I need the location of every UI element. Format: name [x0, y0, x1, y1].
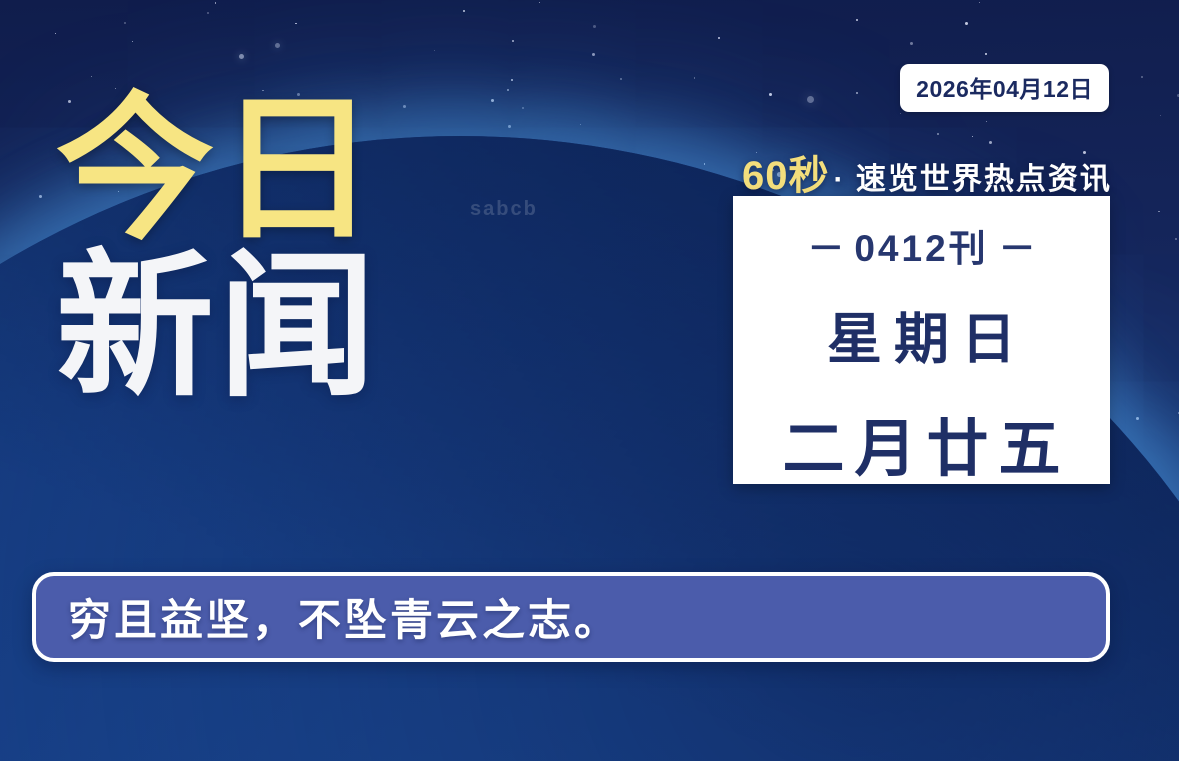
issue-dash-right: －: [989, 228, 1046, 269]
tagline-highlight: 60秒: [742, 154, 830, 198]
tagline-rest: · 速览世界热点资讯: [834, 163, 1112, 196]
date-badge: 2026年04月12日: [900, 64, 1109, 112]
headline-line-today: 今日: [56, 96, 380, 245]
watermark-text: sabcb: [470, 198, 538, 221]
issue-dash-left: －: [797, 228, 854, 269]
page-title: 今日 新闻: [56, 96, 380, 401]
issue-number-row: －0412刊－: [797, 218, 1045, 272]
quote-text: 穷且益坚，不坠青云之志。: [68, 586, 620, 648]
headline-line-news: 新闻: [56, 253, 380, 402]
quote-bar: 穷且益坚，不坠青云之志。: [32, 572, 1110, 662]
issue-number: 0412刊: [854, 228, 988, 269]
weekday-label: 星期日: [815, 294, 1028, 374]
lunar-date-label: 二月廿五: [772, 398, 1070, 488]
tagline: 60秒· 速览世界热点资讯: [742, 143, 1112, 201]
issue-card: －0412刊－ 星期日 二月廿五: [733, 196, 1110, 484]
news-poster: sabcb 今日 新闻 2026年04月12日 60秒· 速览世界热点资讯 －0…: [0, 0, 1179, 761]
